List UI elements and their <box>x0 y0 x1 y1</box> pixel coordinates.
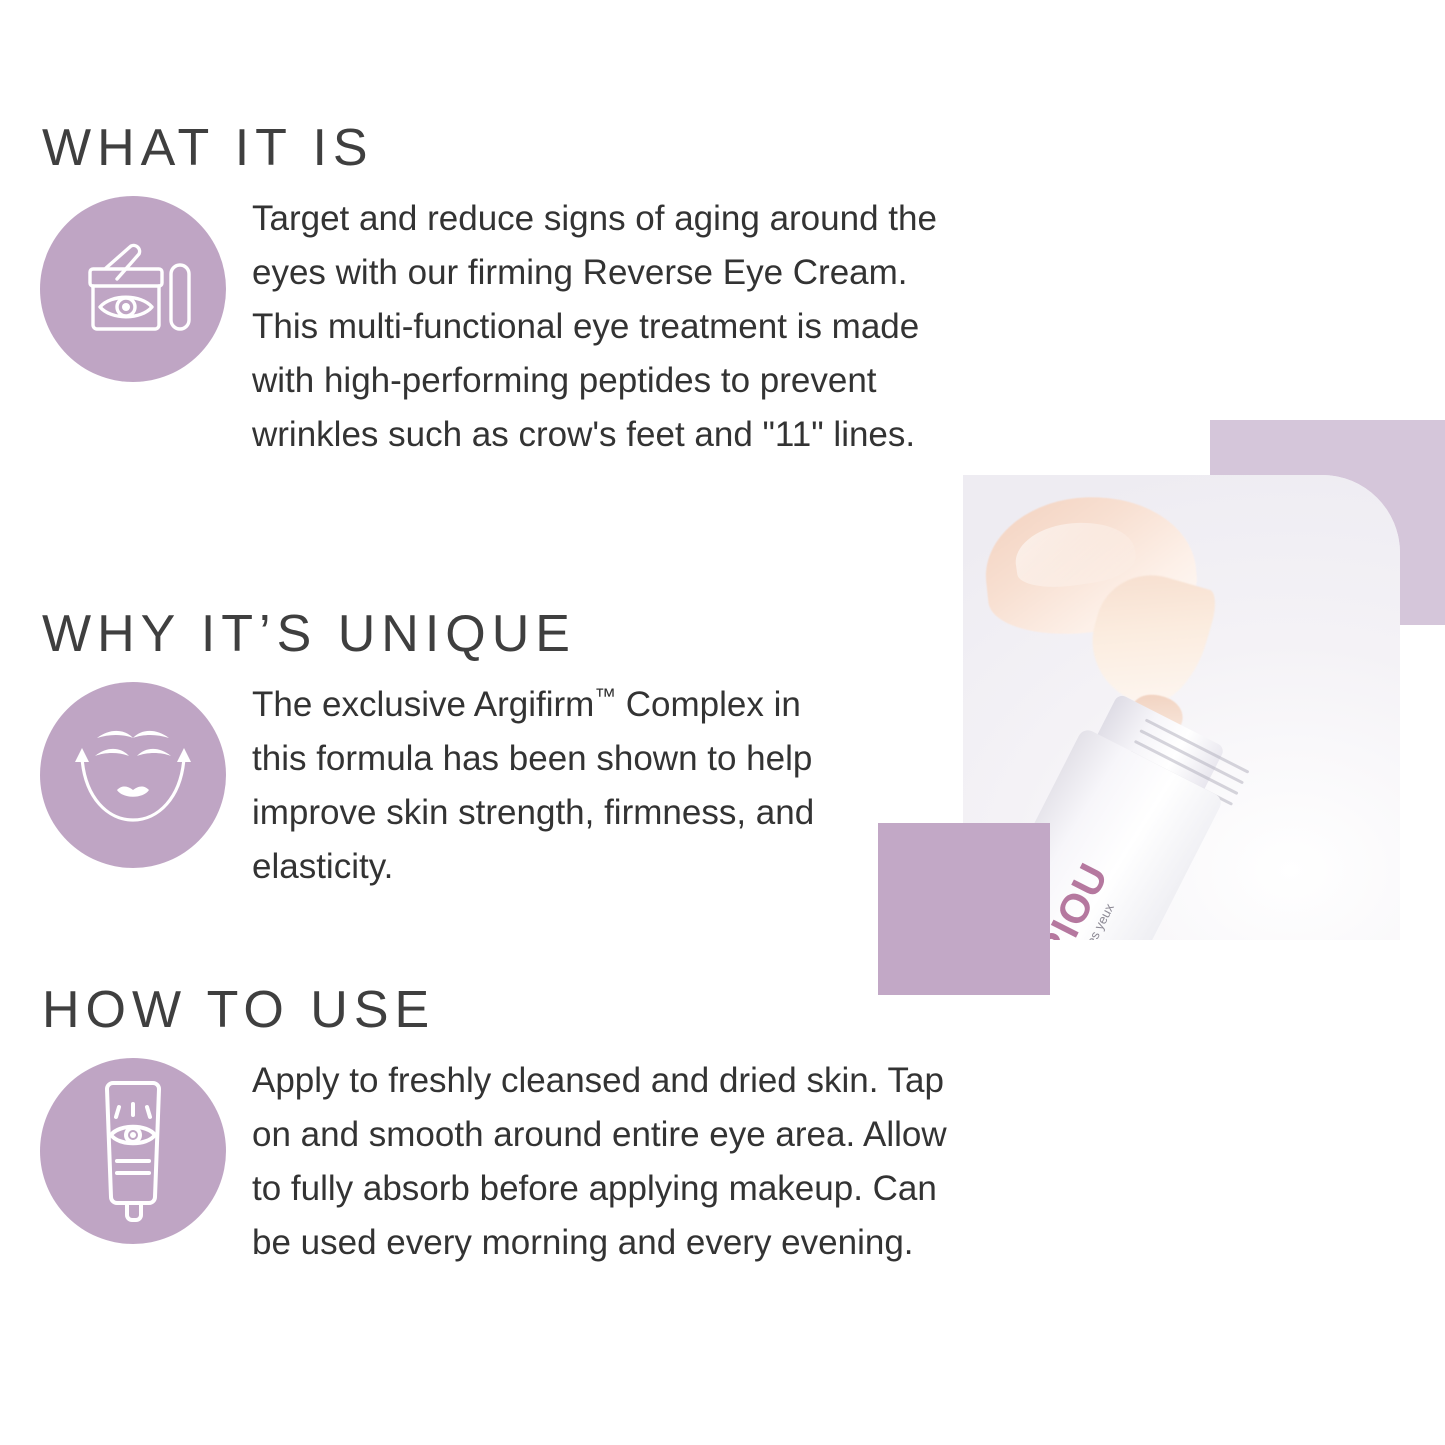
section-heading-what-it-is: WHAT IT IS <box>0 122 980 174</box>
peach-cream-swipe <box>985 497 1240 712</box>
decorative-square-bottom-left <box>878 823 1050 995</box>
body-text-what-it-is: Target and reduce signs of aging around … <box>252 192 962 461</box>
content-column: WHAT IT IS <box>0 0 980 1445</box>
eye-cream-tube-icon <box>40 1058 226 1244</box>
body-text-why-its-unique: The exclusive Argifirm™ Complex in this … <box>252 678 852 894</box>
body-text-part-1: The exclusive Argifirm <box>252 685 594 724</box>
eye-cream-jar-icon <box>40 196 226 382</box>
section-heading-how-to-use: HOW TO USE <box>0 984 980 1036</box>
body-text-how-to-use: Apply to freshly cleansed and dried skin… <box>252 1054 962 1270</box>
product-visual-composition: SERIOU pour les yeux <box>860 400 1445 1020</box>
section-heading-why-its-unique: WHY IT’S UNIQUE <box>0 608 980 660</box>
section-why-its-unique: WHY IT’S UNIQUE <box>0 608 980 862</box>
section-how-to-use: HOW TO USE <box>0 984 980 1238</box>
section-body-why-its-unique: The exclusive Argifirm™ Complex in this … <box>0 682 980 862</box>
product-infographic-page: WHAT IT IS <box>0 0 1445 1445</box>
section-what-it-is: WHAT IT IS <box>0 122 980 376</box>
section-body-how-to-use: Apply to freshly cleansed and dried skin… <box>0 1058 980 1238</box>
lifted-face-icon <box>40 682 226 868</box>
section-body-what-it-is: Target and reduce signs of aging around … <box>0 196 980 376</box>
trademark-symbol: ™ <box>594 683 616 708</box>
